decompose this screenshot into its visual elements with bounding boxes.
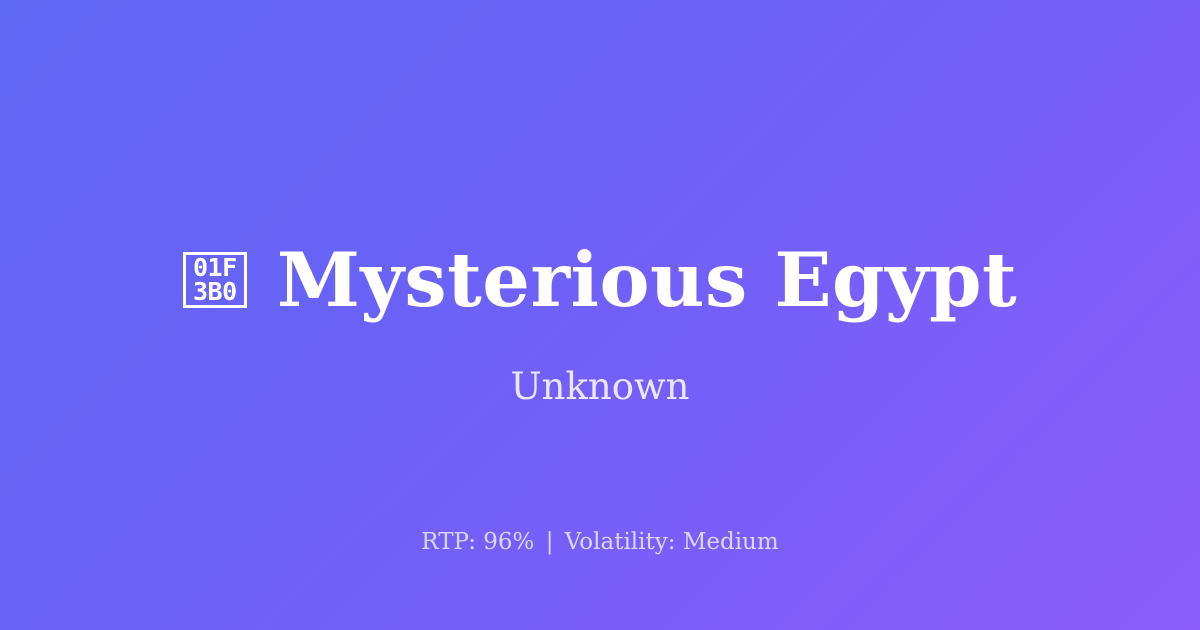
game-meta-line: RTP: 96% | Volatility: Medium	[0, 527, 1200, 557]
tofu-codepoint-bottom: 3B0	[193, 280, 237, 304]
rtp-label: RTP:	[421, 529, 476, 555]
slot-machine-icon: 01F 3B0	[183, 252, 247, 308]
page-title: Mysterious Egypt	[277, 237, 1017, 323]
meta-separator: |	[542, 529, 558, 555]
og-share-card: 01F 3B0 Mysterious Egypt Unknown RTP: 96…	[0, 0, 1200, 630]
rtp-value: 96%	[483, 529, 534, 555]
title-row: 01F 3B0 Mysterious Egypt	[0, 232, 1200, 328]
provider-name: Unknown	[0, 364, 1200, 410]
volatility-label: Volatility:	[565, 529, 676, 555]
volatility-value: Medium	[683, 529, 779, 555]
